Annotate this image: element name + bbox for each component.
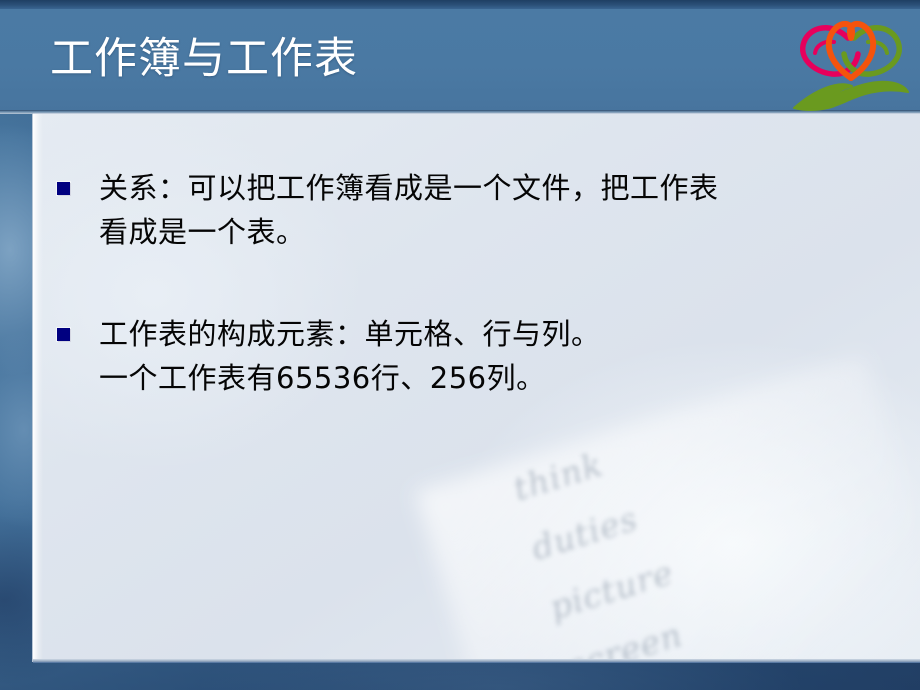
list-item: 工作表的构成元素：单元格、行与列。 一个工作表有65536行、256列。 xyxy=(57,312,887,400)
panel-left-sheen xyxy=(33,114,43,662)
panel-bottom-edge xyxy=(33,659,920,663)
watermark-line: picture xyxy=(542,427,920,638)
watermark-line: screen xyxy=(560,486,920,662)
list-item: 关系：可以把工作簿看成是一个文件，把工作表 看成是一个表。 xyxy=(57,166,887,254)
top-rail xyxy=(0,0,920,9)
square-bullet-icon xyxy=(57,328,70,341)
square-bullet-icon xyxy=(57,182,70,195)
bullet-list: 关系：可以把工作簿看成是一个文件，把工作表 看成是一个表。 工作表的构成元素：单… xyxy=(57,166,887,400)
list-item-line: 关系：可以把工作簿看成是一个文件，把工作表 xyxy=(99,166,887,210)
logo-leaf-path xyxy=(794,82,908,110)
watermark-sheet xyxy=(415,354,920,662)
list-item-text: 工作表的构成元素：单元格、行与列。 一个工作表有65536行、256列。 xyxy=(99,312,887,400)
content-panel: think duties picture screen 关系：可以把工作簿看成是… xyxy=(33,114,920,662)
list-item-line: 工作表的构成元素：单元格、行与列。 xyxy=(99,312,887,356)
list-item-line: 看成是一个表。 xyxy=(99,210,887,254)
flower-heart-logo xyxy=(788,4,914,116)
list-item-line: 一个工作表有65536行、256列。 xyxy=(99,356,887,400)
slide-title: 工作簿与工作表 xyxy=(50,31,358,87)
presentation-slide: 工作簿与工作表 think duties picture xyxy=(0,0,920,690)
list-item-text: 关系：可以把工作簿看成是一个文件，把工作表 看成是一个表。 xyxy=(99,166,887,254)
